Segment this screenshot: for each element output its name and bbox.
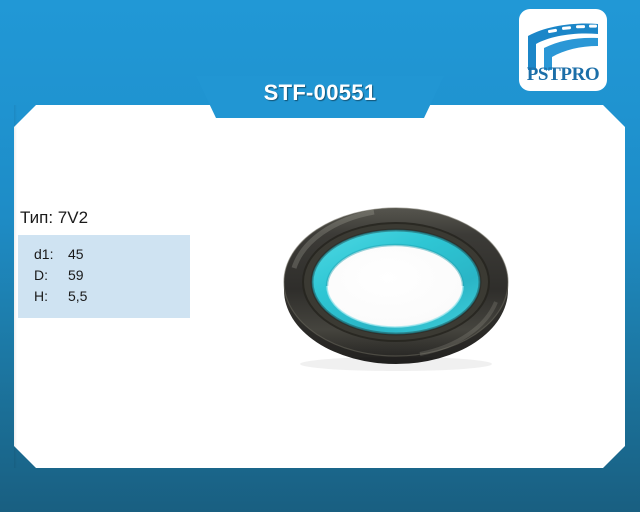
dimension-value: 59 <box>68 265 84 286</box>
dimension-key: d1: <box>34 244 68 265</box>
dimension-key: H: <box>34 286 68 307</box>
product-card-page: STF-00551 <box>0 0 640 512</box>
seal-bore <box>327 245 463 327</box>
dimension-row: H: 5,5 <box>18 286 190 307</box>
dimensions-box: d1: 45 D: 59 H: 5,5 <box>18 235 190 318</box>
type-label: Тип: <box>20 208 53 227</box>
specification-block: Тип: 7V2 d1: 45 D: 59 H: 5,5 <box>18 208 278 318</box>
dimension-row: D: 59 <box>18 265 190 286</box>
dimension-key: D: <box>34 265 68 286</box>
type-value: 7V2 <box>58 208 88 227</box>
dimension-value: 45 <box>68 244 84 265</box>
type-line: Тип: 7V2 <box>20 208 278 228</box>
brand-logo[interactable]: PSTPRO <box>518 8 608 92</box>
logo-wordmark: PSTPRO <box>527 64 600 85</box>
oil-seal-photo <box>278 198 518 376</box>
page-title: STF-00551 <box>196 76 444 110</box>
dimension-value: 5,5 <box>68 286 87 307</box>
dimension-row: d1: 45 <box>18 244 190 265</box>
